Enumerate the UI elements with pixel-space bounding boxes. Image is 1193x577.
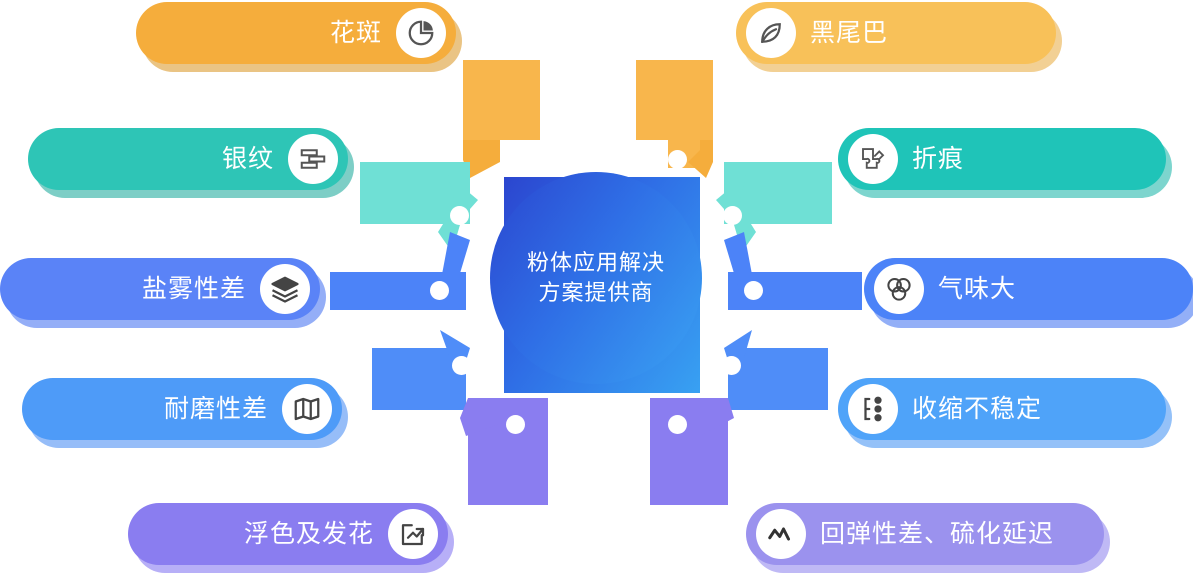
node-label: 回弹性差、硫化延迟 — [820, 522, 1054, 547]
node-pill-fu-se-ji-fa-hua[interactable]: 浮色及发花 — [128, 503, 448, 565]
center-node-label: 粉体应用解决 方案提供商 — [490, 172, 702, 384]
node-pill-zhe-hen[interactable]: 折痕 — [838, 128, 1166, 190]
node-label: 浮色及发花 — [244, 522, 374, 547]
node-label: 银纹 — [222, 147, 274, 172]
node-pill-yin-wen[interactable]: 银纹 — [28, 128, 348, 190]
puzzle-icon — [848, 134, 898, 184]
connector-dot-n1 — [507, 150, 526, 169]
node-label: 收缩不稳定 — [912, 397, 1042, 422]
node-label: 折痕 — [912, 147, 964, 172]
node-label: 气味大 — [938, 277, 1016, 302]
node-pill-hei-wei-ba[interactable]: 黑尾巴 — [736, 2, 1056, 64]
node-label: 盐雾性差 — [142, 277, 246, 302]
connector-dot-n10 — [668, 415, 687, 434]
node-label: 黑尾巴 — [810, 21, 888, 46]
node-pill-shou-suo-bu-wen-ding[interactable]: 收缩不稳定 — [838, 378, 1166, 440]
recycle-icon — [874, 264, 924, 314]
center-line-2: 方案提供商 — [527, 278, 665, 308]
connector-dot-n6 — [744, 281, 763, 300]
connector-dot-n3 — [450, 206, 469, 225]
node-label: 花斑 — [330, 21, 382, 46]
pie-chart-icon — [396, 8, 446, 58]
connector-dot-n5 — [430, 281, 449, 300]
map-icon — [282, 384, 332, 434]
node-pill-nai-mo-xing-cha[interactable]: 耐磨性差 — [22, 378, 342, 440]
node-label: 耐磨性差 — [164, 397, 268, 422]
node-pill-hua-ban[interactable]: 花斑 — [136, 2, 456, 64]
connector-dot-n8 — [722, 356, 741, 375]
connector-dot-n4 — [723, 206, 742, 225]
node-pill-qi-wei-da[interactable]: 气味大 — [864, 258, 1193, 320]
leaf-icon — [746, 8, 796, 58]
center-line-1: 粉体应用解决 — [527, 248, 665, 278]
line-chart-icon — [756, 509, 806, 559]
brick-wall-icon — [288, 134, 338, 184]
infographic-canvas: 粉体应用解决 方案提供商 花斑 黑尾巴 银纹 — [0, 0, 1193, 577]
sitemap-icon — [848, 384, 898, 434]
node-pill-hui-tan-xing-cha[interactable]: 回弹性差、硫化延迟 — [746, 503, 1104, 565]
layers-icon — [260, 264, 310, 314]
connector-dot-n2 — [668, 150, 687, 169]
growth-chart-icon — [388, 509, 438, 559]
node-pill-yan-wu-xing-cha[interactable]: 盐雾性差 — [0, 258, 320, 320]
connector-dot-n9 — [506, 415, 525, 434]
connector-dot-n7 — [452, 356, 471, 375]
